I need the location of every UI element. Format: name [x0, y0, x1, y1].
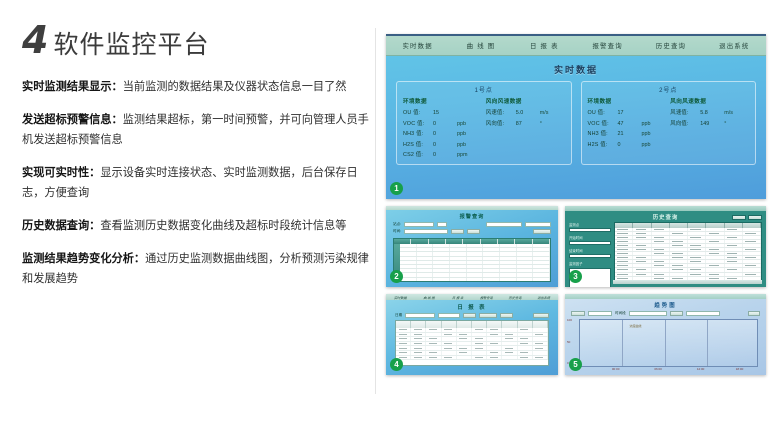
data-row: 风向值: 149 °	[670, 119, 749, 130]
time-range-input[interactable]	[629, 311, 667, 316]
bullet-lead: 实现可实时性：	[22, 167, 100, 179]
trend-plot-area[interactable]: 100 50 0 浓度曲线 00:00 06:00 12:00 18:00	[579, 319, 758, 367]
data-row: OU 值: 15	[403, 108, 482, 119]
row-key: CS2 值:	[403, 150, 433, 161]
group-heading: 环境数据	[588, 97, 667, 105]
menu-item-curve[interactable]: 曲 线 图	[415, 295, 444, 300]
row-value: 0	[433, 140, 457, 151]
alarm-table[interactable]	[393, 238, 551, 282]
gridline	[665, 320, 666, 366]
row-unit: ppb	[642, 119, 660, 130]
bullet-lead: 历史数据查询：	[22, 220, 100, 232]
row-key: H2S 值:	[403, 140, 433, 151]
env-data-group: 环境数据 OU 值: 15 VOC 值: 0 ppb	[403, 97, 482, 161]
station-dropdown[interactable]	[437, 222, 447, 227]
row-unit: °	[724, 119, 742, 130]
wind-data-group: 风向风速数据 风速值: 5.0 m/s 风向值: 87 °	[486, 97, 565, 161]
station-select[interactable]	[588, 311, 612, 316]
row-key: NH3 值:	[403, 129, 433, 140]
row-value: 0	[433, 150, 457, 161]
export-report-button[interactable]	[479, 313, 497, 318]
table-body	[400, 244, 550, 282]
status-badge: 5	[569, 358, 582, 371]
row-value: 5.0	[516, 108, 540, 119]
history-table[interactable]	[614, 222, 762, 284]
screenshot-history-query[interactable]: 历史查询 监测点 开始时间 结束时间 监测因子	[565, 206, 766, 287]
panel-title: 实时数据	[386, 56, 766, 81]
bullet-body: 当前监测的数据结果及仪器状态信息一目了然	[123, 81, 347, 93]
data-row: VOC 值: 0 ppb	[403, 119, 482, 130]
menu-item-exit[interactable]: 退出系统	[529, 295, 558, 300]
thumbnail-row-upper: 报警查询 站点: 时间:	[386, 206, 766, 287]
field-label-station: 站点:	[393, 222, 401, 227]
time-input[interactable]	[404, 229, 448, 234]
station-card: 2号点 环境数据 OU 值: 17 VOC 值: 47	[581, 81, 757, 165]
row-key: 风速值:	[670, 108, 700, 119]
field-label-time: 时间段	[615, 311, 626, 316]
data-row: 风速值: 5.8 m/s	[670, 108, 749, 119]
date-input[interactable]	[405, 313, 435, 318]
screenshot-stack: 实时数据 曲 线 图 日 报 表 报警查询 历史查询 退出系统 实时数据 1号点…	[386, 34, 766, 375]
menu-item-alarm[interactable]: 报警查询	[576, 41, 639, 50]
row-key: H2S 值:	[588, 140, 618, 151]
print-button[interactable]	[748, 215, 762, 220]
group-heading: 风向风速数据	[670, 97, 749, 105]
field-label-station: 监测点	[569, 222, 611, 227]
station-select[interactable]	[404, 222, 434, 227]
row-value: 0	[618, 140, 642, 151]
thumbnail-row-lower: 实时数据 曲 线 图 日 报 表 报警查询 历史查询 退出系统 日 报 表 日期	[386, 294, 766, 375]
slide-heading: 软件监控平台	[53, 32, 209, 58]
row-key: 风速值:	[486, 108, 516, 119]
row-key: 风向值:	[486, 119, 516, 130]
status-badge: 4	[390, 358, 403, 371]
screenshot-alarm-query[interactable]: 报警查询 站点: 时间:	[386, 206, 558, 287]
row-value: 17	[618, 108, 642, 119]
gridline	[707, 320, 708, 366]
print-button[interactable]	[500, 313, 513, 318]
status-badge: 1	[390, 182, 403, 195]
chart-legend: 浓度曲线	[630, 324, 642, 328]
station-name: 1号点	[403, 85, 565, 94]
bullet-list: 实时监测结果显示：当前监测的数据结果及仪器状态信息一目了然 发送超标预警信息：监…	[22, 78, 372, 290]
row-unit: ppb	[457, 140, 475, 151]
refresh-button[interactable]	[748, 311, 760, 316]
station-card-group: 1号点 环境数据 OU 值: 15 VOC 值: 0	[386, 81, 766, 165]
table-row[interactable]	[400, 278, 550, 282]
row-value: 87	[516, 119, 540, 130]
query-button[interactable]	[451, 229, 464, 234]
extra-field-b[interactable]	[525, 222, 551, 227]
text-column: 4 软件监控平台 实时监测结果显示：当前监测的数据结果及仪器状态信息一目了然 发…	[22, 22, 372, 402]
field-label-end: 结束时间	[569, 248, 611, 253]
data-row: NH3 值: 21 ppb	[588, 129, 667, 140]
export-button[interactable]	[467, 229, 480, 234]
data-row: CS2 值: 0 ppm	[403, 150, 482, 161]
query-form: 时间段	[565, 311, 766, 318]
menu-item-alarm[interactable]: 报警查询	[472, 295, 501, 300]
screenshot-trend-chart[interactable]: 趋势图 时间段 100 50 0	[565, 294, 766, 375]
row-unit	[457, 108, 475, 119]
station-name: 2号点	[588, 85, 750, 94]
x-axis-tick: 06:00	[654, 367, 662, 371]
screenshot-realtime-data[interactable]: 实时数据 曲 线 图 日 报 表 报警查询 历史查询 退出系统 实时数据 1号点…	[386, 34, 766, 199]
x-axis-tick: 00:00	[612, 367, 620, 371]
row-key: OU 值:	[588, 108, 618, 119]
row-value: 47	[618, 119, 642, 130]
menu-item-report[interactable]: 日 报 表	[513, 41, 576, 50]
wind-data-group: 风向风速数据 风速值: 5.8 m/s 风向值: 149 °	[670, 97, 749, 150]
bullet-lead: 实时监测结果显示：	[22, 81, 123, 93]
row-unit: ppm	[457, 150, 475, 161]
row-key: OU 值:	[403, 108, 433, 119]
field-label-factor: 监测因子	[569, 261, 611, 266]
row-value: 149	[700, 119, 724, 130]
row-unit: m/s	[724, 108, 742, 119]
row-unit: ppb	[642, 129, 660, 140]
aux-button[interactable]	[533, 229, 551, 234]
bullet-body: 查看监测历史数据变化曲线及超标时段统计信息等	[100, 220, 346, 232]
panel-body: 监测点 开始时间 结束时间 监测因子	[565, 222, 766, 287]
row-unit: ppb	[457, 129, 475, 140]
extra-field-a[interactable]	[486, 222, 522, 227]
vertical-divider	[375, 28, 376, 394]
slide-number: 4	[22, 22, 47, 58]
gridline	[622, 320, 623, 366]
list-item: 实现可实时性：显示设备实时连接状态、实时监测数据，后台保存日志，方便查询	[22, 164, 372, 204]
data-row: 风速值: 5.0 m/s	[486, 108, 565, 119]
aux-button[interactable]	[533, 313, 549, 318]
row-unit: ppb	[457, 119, 475, 130]
row-key: VOC 值:	[588, 119, 618, 130]
row-value: 21	[618, 129, 642, 140]
table-footer-bar	[613, 280, 762, 284]
menu-item-exit[interactable]: 退出系统	[703, 41, 766, 50]
slide-root: 4 软件监控平台 实时监测结果显示：当前监测的数据结果及仪器状态信息一目了然 发…	[0, 0, 776, 421]
x-axis-tick: 18:00	[736, 367, 744, 371]
y-axis-label-mid: 50	[567, 340, 570, 344]
station-input[interactable]	[569, 228, 611, 232]
row-key: NH3 值:	[588, 129, 618, 140]
panel-title: 日 报 表	[386, 300, 558, 313]
panel-title: 报警查询	[386, 210, 558, 222]
y-axis-label-top: 100	[567, 318, 572, 322]
start-time-input[interactable]	[569, 241, 611, 245]
query-form: 站点: 时间:	[386, 222, 558, 238]
row-key: 风向值:	[670, 119, 700, 130]
list-item: 历史数据查询：查看监测历史数据变化曲线及超标时段统计信息等	[22, 217, 372, 237]
data-row: 风向值: 87 °	[486, 119, 565, 130]
data-row: OU 值: 17	[588, 108, 667, 119]
row-unit	[642, 108, 660, 119]
menu-item-history[interactable]: 历史查询	[501, 295, 530, 300]
aux-button-left[interactable]	[571, 311, 585, 316]
bullet-lead: 监测结果趋势变化分析：	[22, 253, 145, 265]
action-button-group	[732, 215, 762, 220]
query-button[interactable]	[463, 313, 476, 318]
list-item: 监测结果趋势变化分析：通过历史监测数据曲线图，分析预测污染规律和发展趋势	[22, 250, 372, 290]
menu-item-report[interactable]: 日 报 表	[443, 295, 472, 300]
list-item: 实时监测结果显示：当前监测的数据结果及仪器状态信息一目了然	[22, 78, 372, 98]
row-unit: m/s	[540, 108, 558, 119]
group-heading: 风向风速数据	[486, 97, 565, 105]
row-key: VOC 值:	[403, 119, 433, 130]
table-row[interactable]	[396, 356, 548, 361]
page-title: 4 软件监控平台	[22, 22, 372, 58]
end-time-input[interactable]	[569, 254, 611, 258]
row-value: 0	[433, 119, 457, 130]
row-unit: ppb	[642, 140, 660, 151]
query-form: 日期	[386, 313, 558, 320]
query-button[interactable]	[670, 311, 683, 316]
menu-item-realtime[interactable]: 实时数据	[386, 41, 449, 50]
list-item: 发送超标预警信息：监测结果超标，第一时间预警，并可向管理人员手机发送超标预警信息	[22, 111, 372, 151]
data-row: NH3 值: 0 ppb	[403, 129, 482, 140]
report-table[interactable]	[395, 320, 549, 366]
row-value: 15	[433, 108, 457, 119]
status-badge: 2	[390, 270, 403, 283]
data-row: H2S 值: 0 ppb	[588, 140, 667, 151]
app-menubar[interactable]: 实时数据 曲 线 图 日 报 表 报警查询 历史查询 退出系统	[386, 294, 558, 300]
date-picker[interactable]	[438, 313, 460, 318]
row-value: 0	[433, 129, 457, 140]
screenshot-daily-report[interactable]: 实时数据 曲 线 图 日 报 表 报警查询 历史查询 退出系统 日 报 表 日期	[386, 294, 558, 375]
row-value: 5.8	[700, 108, 724, 119]
menu-item-curve[interactable]: 曲 线 图	[449, 41, 512, 50]
query-button[interactable]	[732, 215, 746, 220]
x-axis-tick: 12:00	[697, 367, 705, 371]
env-data-group: 环境数据 OU 值: 17 VOC 值: 47 ppb	[588, 97, 667, 150]
table-header	[396, 321, 548, 328]
field-label-time: 时间:	[393, 229, 401, 234]
data-row: H2S 值: 0 ppb	[403, 140, 482, 151]
factor-checkboxes[interactable]	[686, 311, 720, 316]
field-label-date: 日期	[395, 313, 402, 318]
data-row: VOC 值: 47 ppb	[588, 119, 667, 130]
menu-item-realtime[interactable]: 实时数据	[386, 295, 415, 300]
bullet-lead: 发送超标预警信息：	[22, 114, 123, 126]
status-badge: 3	[569, 270, 582, 283]
group-heading: 环境数据	[403, 97, 482, 105]
panel-title: 趋势图	[565, 299, 766, 311]
menu-item-history[interactable]: 历史查询	[639, 41, 702, 50]
station-card: 1号点 环境数据 OU 值: 15 VOC 值: 0	[396, 81, 572, 165]
row-unit: °	[540, 119, 558, 130]
field-label-start: 开始时间	[569, 235, 611, 240]
app-menubar[interactable]: 实时数据 曲 线 图 日 报 表 报警查询 历史查询 退出系统	[386, 36, 766, 56]
